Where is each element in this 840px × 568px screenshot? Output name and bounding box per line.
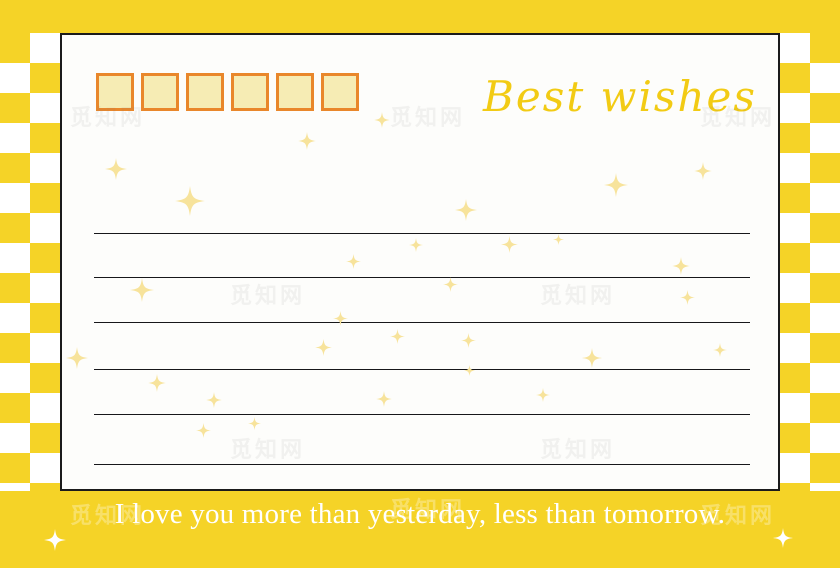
rule-line: [94, 277, 750, 278]
sparkle-icon: [66, 347, 88, 369]
checker-band-right: [780, 33, 840, 491]
sparkle-icon: [298, 132, 316, 150]
stamp-square: [186, 73, 224, 111]
sparkle-icon: [536, 388, 550, 402]
sparkle-icon: [105, 158, 127, 180]
sparkle-icon: [464, 365, 475, 376]
sparkle-icon: [346, 254, 361, 269]
page-title: Best wishes: [480, 72, 760, 121]
rule-line: [94, 233, 750, 234]
sparkle-icon: [694, 162, 712, 180]
sparkle-icon: [196, 423, 211, 438]
rule-line: [94, 369, 750, 370]
stamp-square: [141, 73, 179, 111]
stamp-square: [276, 73, 314, 111]
stamp-square-row: [96, 73, 359, 111]
sparkle-icon: [680, 290, 695, 305]
caption-text: I love you more than yesterday, less tha…: [0, 498, 840, 531]
sparkle-icon: [333, 311, 348, 326]
greeting-card-canvas: Best wishes I love you more than yesterd…: [0, 0, 840, 568]
sparkle-icon: [248, 417, 261, 430]
stamp-square: [96, 73, 134, 111]
sparkle-icon: [582, 348, 602, 368]
rule-line: [94, 322, 750, 323]
sparkle-icon: [148, 374, 166, 392]
checker-band-left: [0, 33, 60, 491]
note-card: Best wishes: [60, 33, 780, 491]
sparkle-icon: [175, 186, 205, 216]
sparkle-icon: [390, 329, 405, 344]
sparkle-icon: [376, 391, 392, 407]
sparkle-icon: [553, 234, 564, 245]
sparkle-icon: [713, 343, 727, 357]
sparkle-icon: [604, 173, 628, 197]
sparkle-icon: [672, 257, 690, 275]
rule-line: [94, 464, 750, 465]
stamp-square: [321, 73, 359, 111]
sparkle-icon: [455, 199, 477, 221]
sparkle-icon: [374, 112, 390, 128]
sparkle-icon: [409, 238, 423, 252]
sparkle-icon: [443, 277, 458, 292]
sparkle-icon: [461, 333, 476, 348]
rule-line: [94, 414, 750, 415]
sparkle-icon: [501, 236, 518, 253]
sparkle-icon: [206, 392, 222, 408]
sparkle-icon: [130, 278, 154, 302]
sparkle-icon: [315, 339, 332, 356]
stamp-square: [231, 73, 269, 111]
